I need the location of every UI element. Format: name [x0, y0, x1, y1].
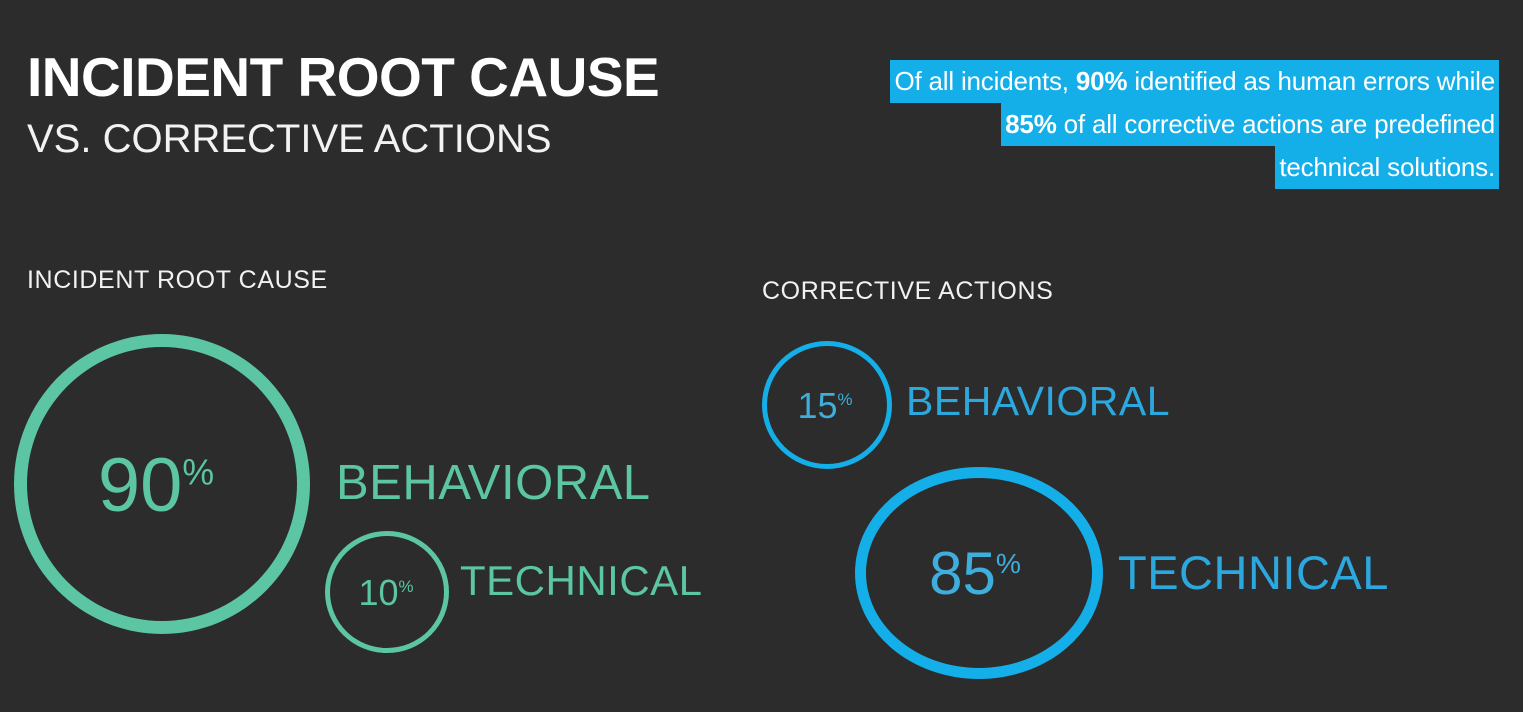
donut-value-incident-technical: 10% — [358, 575, 413, 611]
legend-incident-behavioral: BEHAVIORAL — [336, 455, 651, 511]
callout-statement: Of all incidents, 90% identified as huma… — [799, 60, 1499, 189]
panel-label-corrective-actions: CORRECTIVE ACTIONS — [762, 277, 1053, 306]
page-subtitle: VS. CORRECTIVE ACTIONS — [27, 119, 727, 159]
legend-corrective-technical: TECHNICAL — [1118, 545, 1389, 600]
donut-value-incident-behavioral: 90% — [98, 448, 214, 524]
percent-sign: % — [838, 390, 853, 409]
panel-label-incident-root-cause: INCIDENT ROOT CAUSE — [27, 266, 328, 295]
callout-line-1: Of all incidents, 90% identified as huma… — [799, 60, 1499, 103]
percent-sign: % — [996, 547, 1021, 579]
callout-line3: technical solutions. — [1279, 152, 1495, 182]
infographic-canvas: INCIDENT ROOT CAUSE VS. CORRECTIVE ACTIO… — [0, 0, 1523, 712]
legend-corrective-behavioral: BEHAVIORAL — [906, 378, 1170, 425]
donut-incident-behavioral: 90% — [14, 334, 310, 634]
callout-line-2: 85% of all corrective actions are predef… — [799, 103, 1499, 146]
callout-line1-post: identified as human errors while — [1127, 66, 1495, 96]
donut-incident-technical: 10% — [325, 531, 449, 653]
donut-corrective-behavioral: 15% — [762, 341, 892, 469]
donut-corrective-technical: 85% — [855, 467, 1103, 679]
title-block: INCIDENT ROOT CAUSE VS. CORRECTIVE ACTIO… — [27, 50, 727, 159]
donut-value-corrective-technical: 85% — [929, 544, 1021, 604]
callout-stat-90: 90% — [1076, 66, 1127, 96]
page-title: INCIDENT ROOT CAUSE — [27, 50, 727, 105]
percent-sign: % — [399, 577, 414, 596]
donut-value-corrective-behavioral: 15% — [797, 388, 852, 424]
legend-incident-technical: TECHNICAL — [460, 557, 703, 605]
callout-stat-85: 85% — [1005, 109, 1056, 139]
callout-line1-pre: Of all incidents, — [894, 66, 1075, 96]
callout-line-3: technical solutions. — [799, 146, 1499, 189]
percent-sign: % — [182, 453, 214, 493]
callout-line2-post: of all corrective actions are predefined — [1057, 109, 1495, 139]
